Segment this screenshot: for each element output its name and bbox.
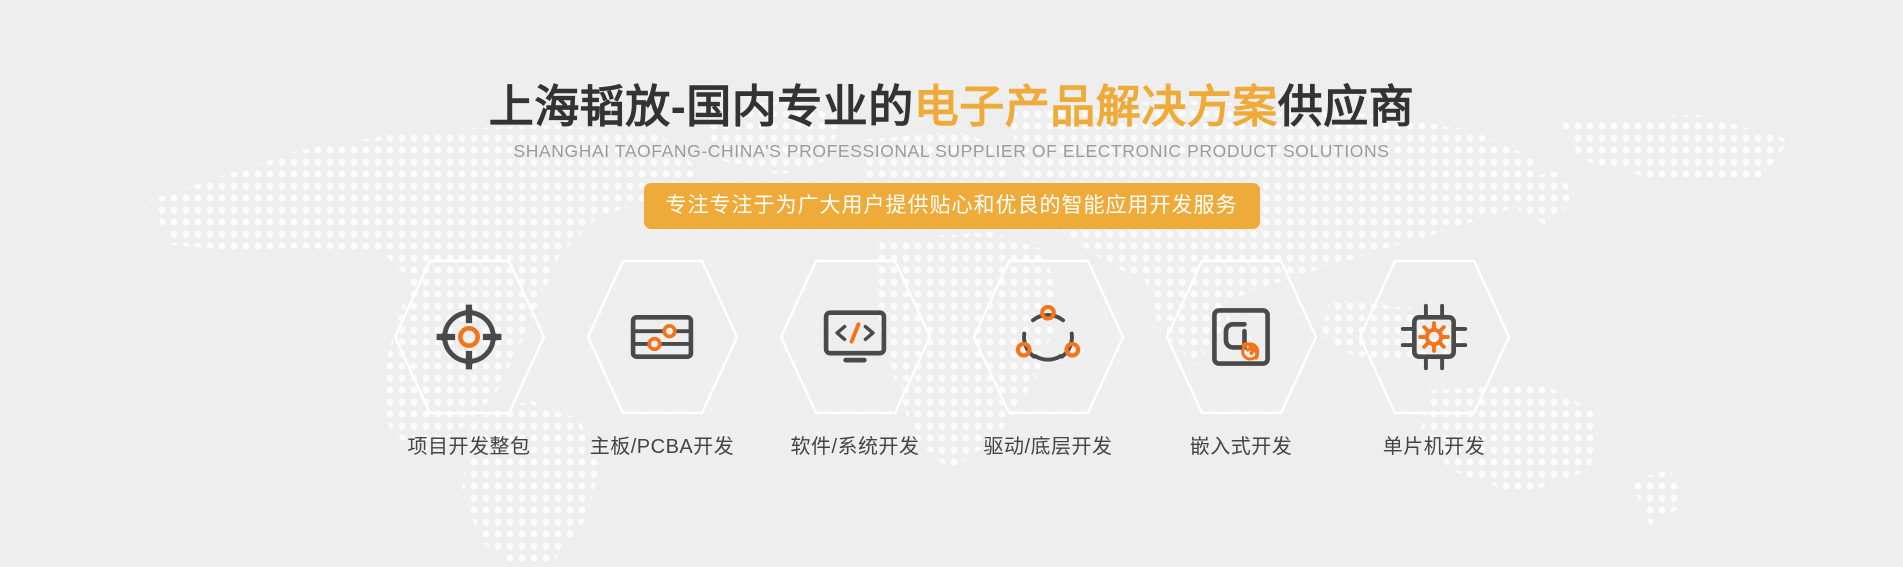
title-segment-highlight: 电子产品解决方案 [914, 81, 1278, 132]
embedded-chip-link-icon [1204, 300, 1278, 374]
service-item-pcba[interactable]: 主板/PCBA开发 [566, 258, 759, 458]
crosshair-target-icon [432, 300, 506, 374]
microchip-gear-icon [1397, 300, 1471, 374]
title-segment-leading: 上海韬放-国内专业的 [489, 81, 914, 132]
hexagon-frame [1164, 258, 1319, 416]
service-item-mcu[interactable]: 单片机开发 [1338, 258, 1531, 458]
node-network-icon [1011, 300, 1085, 374]
title-segment-trailing: 供应商 [1278, 81, 1415, 132]
service-label: 主板/PCBA开发 [590, 436, 735, 458]
service-item-software[interactable]: 软件/系统开发 [759, 258, 952, 458]
service-label: 项目开发整包 [408, 436, 531, 458]
service-label: 嵌入式开发 [1190, 436, 1293, 458]
service-item-project-package[interactable]: 项目开发整包 [373, 258, 566, 458]
service-label: 单片机开发 [1383, 436, 1486, 458]
pcb-board-icon [625, 300, 699, 374]
tagline-badge-wrap: 专注专注于为广大用户提供贴心和优良的智能应用开发服务 [0, 183, 1903, 229]
service-label: 软件/系统开发 [790, 436, 919, 458]
hexagon-frame [392, 258, 547, 416]
page-title: 上海韬放-国内专业的电子产品解决方案供应商 [0, 82, 1903, 132]
service-list: 项目开发整包 主板/PCBA开发 [0, 258, 1903, 458]
hexagon-frame [585, 258, 740, 416]
page-subtitle: SHANGHAI TAOFANG-CHINA'S PROFESSIONAL SU… [0, 141, 1903, 162]
tagline-badge: 专注专注于为广大用户提供贴心和优良的智能应用开发服务 [644, 183, 1260, 229]
service-item-driver[interactable]: 驱动/底层开发 [952, 258, 1145, 458]
service-label: 驱动/底层开发 [983, 436, 1112, 458]
hero-banner: 上海韬放-国内专业的电子产品解决方案供应商 SHANGHAI TAOFANG-C… [0, 0, 1903, 567]
service-item-embedded[interactable]: 嵌入式开发 [1145, 258, 1338, 458]
hexagon-frame [971, 258, 1126, 416]
hexagon-frame [778, 258, 933, 416]
headline-block: 上海韬放-国内专业的电子产品解决方案供应商 SHANGHAI TAOFANG-C… [0, 82, 1903, 229]
hexagon-frame [1357, 258, 1512, 416]
monitor-code-icon [818, 300, 892, 374]
